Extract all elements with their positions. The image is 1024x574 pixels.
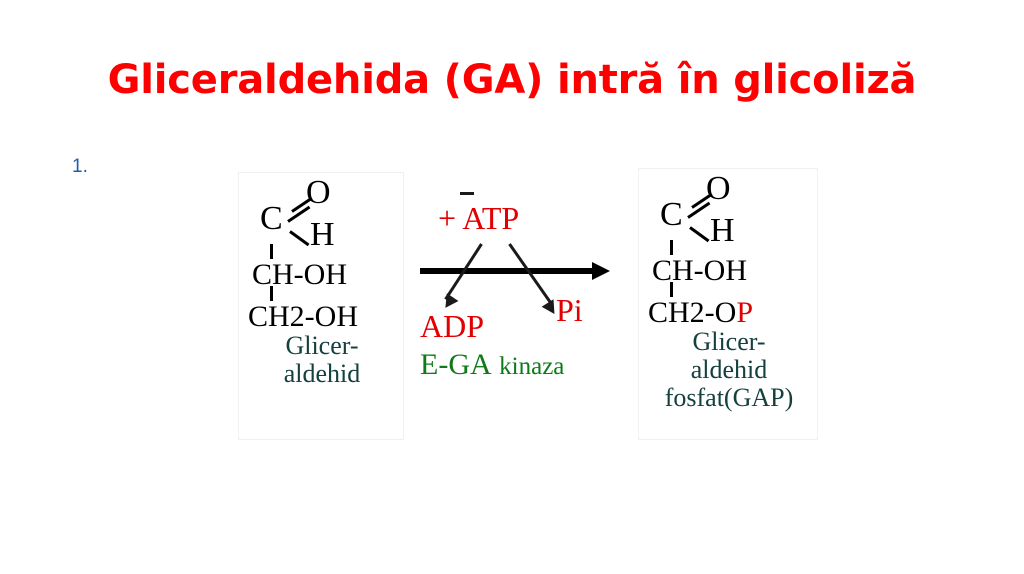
phosphate-group-label: P xyxy=(736,296,753,329)
product-oxygen-atom: O xyxy=(706,172,731,206)
slide-canvas: { "slide": { "title": "Gliceraldehida (G… xyxy=(0,0,1024,574)
product-carbon-atom: C xyxy=(660,198,683,232)
substrate-caption-line-1: Glicer- xyxy=(244,332,400,360)
product-hydrogen-atom: H xyxy=(710,214,735,248)
substrate-molecule: C O H CH-OH CH2-OH Glicer- aldehid xyxy=(244,176,400,334)
enzyme-label-prefix: E-GA xyxy=(420,348,492,381)
product-carbon-chain-bond-1 xyxy=(670,240,673,255)
substrate-caption-line-2: aldehid xyxy=(244,360,400,388)
substrate-formula: C O H CH-OH CH2-OH xyxy=(244,176,400,334)
product-caption-line-2: aldehid xyxy=(644,356,814,384)
product-carbon-hydrogen-bond xyxy=(689,226,709,242)
enzyme-label-suffix: kinaza xyxy=(499,353,564,380)
product-caption-line-1: Glicer- xyxy=(644,328,814,356)
reaction-arrow-shaft xyxy=(420,268,596,274)
substrate-chain-line-2: CH-OH xyxy=(252,260,347,290)
product-molecule: C O H CH-OH CH2-OP Glicer- aldehid fosfa… xyxy=(644,172,814,330)
page-title: Gliceraldehida (GA) intră în glicoliză xyxy=(0,56,1024,104)
substrate-oxygen-atom: O xyxy=(306,176,331,210)
cofactor-output-pi: Pi xyxy=(556,294,583,326)
reaction-diagram: C O H CH-OH CH2-OH Glicer- aldehid + ATP… xyxy=(238,168,818,440)
substrate-chain-line-3: CH2-OH xyxy=(248,302,358,332)
substrate-caption: Glicer- aldehid xyxy=(244,332,400,388)
product-caption-line-3: fosfat(GAP) xyxy=(644,384,814,412)
atp-tick-icon xyxy=(460,192,474,195)
substrate-carbon-atom: C xyxy=(260,202,283,236)
product-chain-line-3: CH2-OP xyxy=(648,298,753,328)
product-chain-line-2: CH-OH xyxy=(652,256,747,286)
reaction-arrow-group: + ATP ADP Pi E-GA kinaza xyxy=(420,184,638,394)
product-chain-line-3-text: CH2-O xyxy=(648,296,736,329)
product-caption: Glicer- aldehid fosfat(GAP) xyxy=(644,328,814,412)
product-formula: C O H CH-OH CH2-OP xyxy=(644,172,814,330)
substrate-hydrogen-atom: H xyxy=(310,218,335,252)
enzyme-label: E-GA kinaza xyxy=(420,350,564,382)
cofactor-input-atp: + ATP xyxy=(438,202,519,234)
cofactor-output-adp: ADP xyxy=(420,310,484,342)
reaction-arrow-head-icon xyxy=(592,262,610,280)
bullet-number: 1. xyxy=(72,155,88,179)
carbon-chain-bond-1 xyxy=(270,244,273,259)
carbon-hydrogen-bond xyxy=(289,230,309,246)
